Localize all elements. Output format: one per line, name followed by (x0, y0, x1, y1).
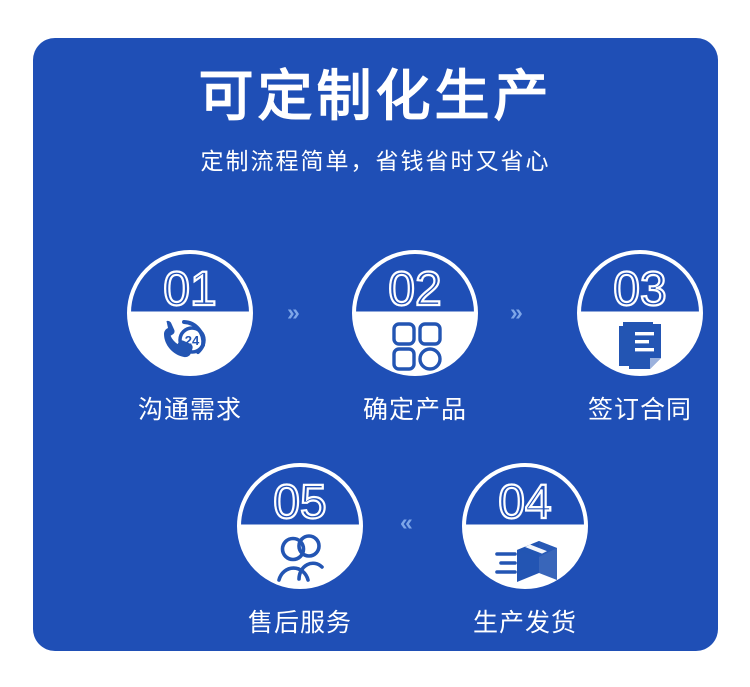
step-circle-01: 01 24 (125, 248, 255, 378)
step-number-05: 05 (273, 476, 326, 529)
step-number-03: 03 (613, 263, 666, 316)
phone-badge-24: 24 (185, 333, 200, 348)
step-number-01: 01 (163, 263, 216, 316)
step-label-01: 沟通需求 (120, 390, 260, 426)
step-item-04: 04 (455, 461, 595, 639)
arrow-right-1: » (287, 301, 297, 324)
step-item-05: 05 售后服务 (230, 461, 370, 639)
arrow-right-2: » (510, 301, 520, 324)
step-label-04: 生产发货 (455, 603, 595, 639)
step-circle-02: 02 (350, 248, 480, 378)
arrow-left-1: « (400, 511, 410, 534)
step-circle-04: 04 (460, 461, 590, 591)
infographic-root: 可定制化生产 定制流程简单，省钱省时又省心 01 (0, 0, 750, 687)
step-circle-03: 03 (575, 248, 705, 378)
page-title: 可定制化生产 (33, 66, 718, 127)
blue-panel: 可定制化生产 定制流程简单，省钱省时又省心 01 (33, 38, 718, 651)
step-label-02: 确定产品 (345, 390, 485, 426)
step-circle-05: 05 (235, 461, 365, 591)
step-item-01: 01 24 沟通需求 (120, 248, 260, 426)
page-subtitle: 定制流程简单，省钱省时又省心 (33, 142, 718, 176)
step-number-04: 04 (498, 476, 551, 529)
step-item-02: 02 确定产品 (345, 248, 485, 426)
step-number-02: 02 (388, 263, 441, 316)
step-label-03: 签订合同 (570, 390, 710, 426)
contract-document-icon (619, 322, 661, 369)
step-label-05: 售后服务 (230, 603, 370, 639)
step-item-03: 03 签订合同 (570, 248, 710, 426)
